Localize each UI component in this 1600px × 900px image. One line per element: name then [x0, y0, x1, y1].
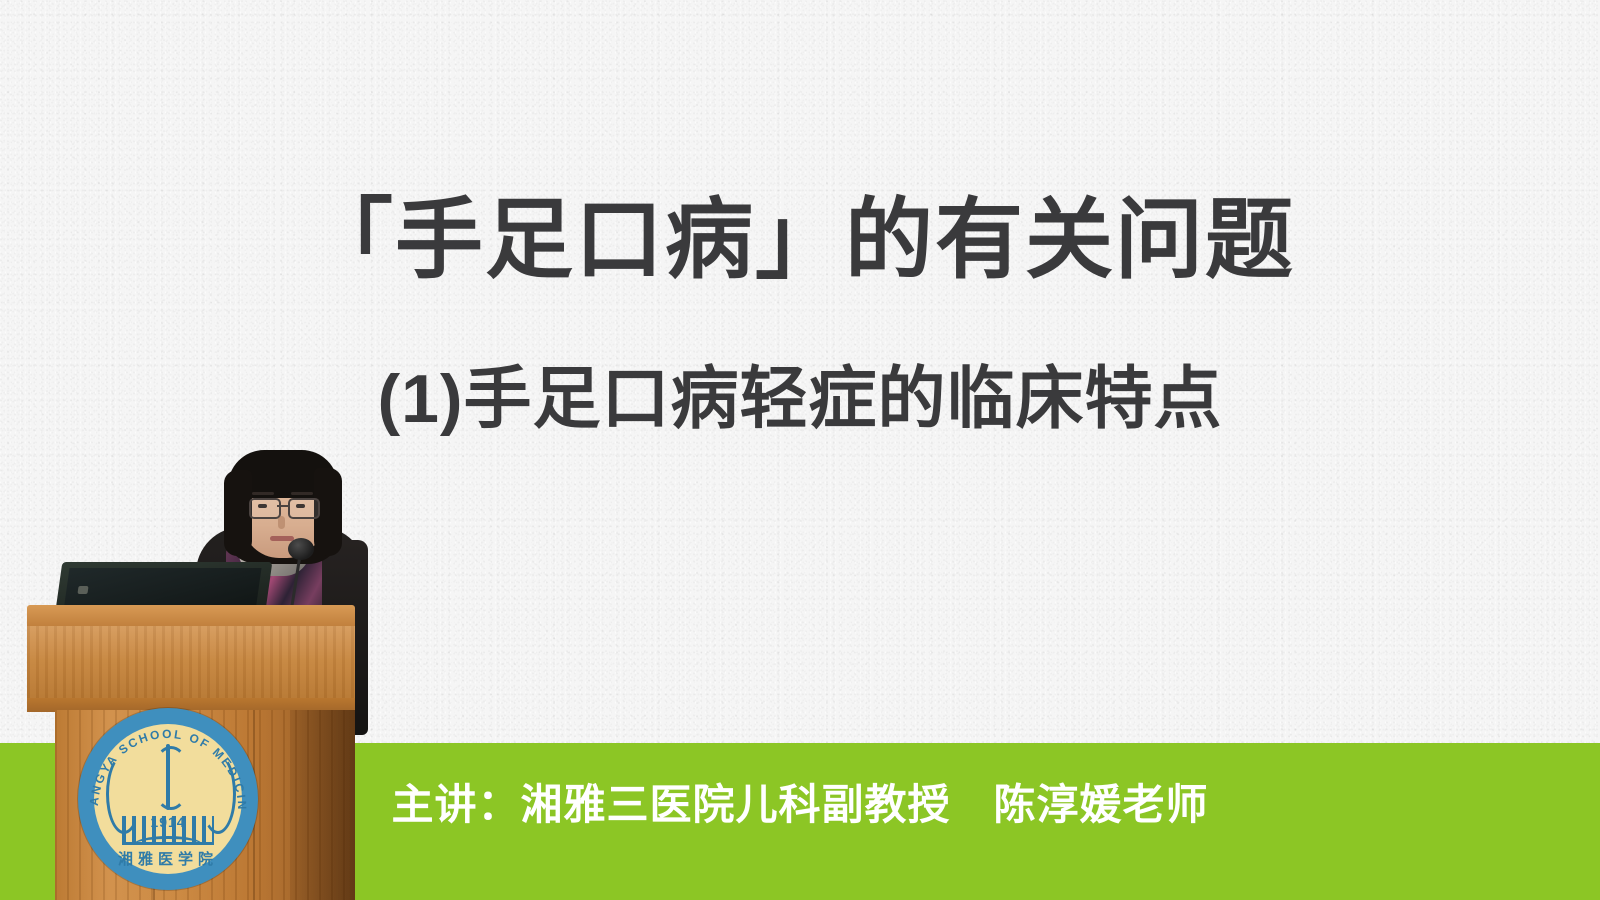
speaker-eyebrow-left	[252, 492, 274, 495]
speaker-mouth	[270, 536, 294, 541]
seal-chinese-name: 湘雅医学院	[78, 848, 258, 869]
eyeglasses-bridge	[277, 505, 288, 507]
speaker-photo-overlay: XIANGYA SCHOOL OF MEDICINE 1914 湘雅医学院	[0, 440, 400, 900]
eyeglasses-lens-right	[288, 498, 320, 519]
podium-top-surface	[27, 605, 355, 627]
eyeglasses-lens-left	[249, 498, 281, 519]
speaker-nose	[278, 516, 285, 529]
speaker-eyebrow-right	[291, 492, 313, 495]
speaker-hair-left	[224, 470, 252, 556]
seal-founding-year: 1914	[78, 814, 258, 830]
slide-main-title: 「手足口病」的有关问题	[0, 188, 1600, 292]
presentation-slide: 「手足口病」的有关问题 (1)手足口病轻症的临床特点 主讲：湘雅三医院儿科副教授…	[0, 0, 1600, 900]
podium-front-panel	[27, 626, 355, 704]
seal-serpent-icon	[156, 746, 186, 810]
xiangya-school-seal: XIANGYA SCHOOL OF MEDICINE 1914 湘雅医学院	[78, 708, 258, 890]
slide-sub-title: (1)手足口病轻症的临床特点	[0, 357, 1600, 441]
microphone-icon	[288, 538, 314, 560]
laptop-badge	[77, 586, 88, 594]
podium-shadow-right	[290, 710, 355, 900]
